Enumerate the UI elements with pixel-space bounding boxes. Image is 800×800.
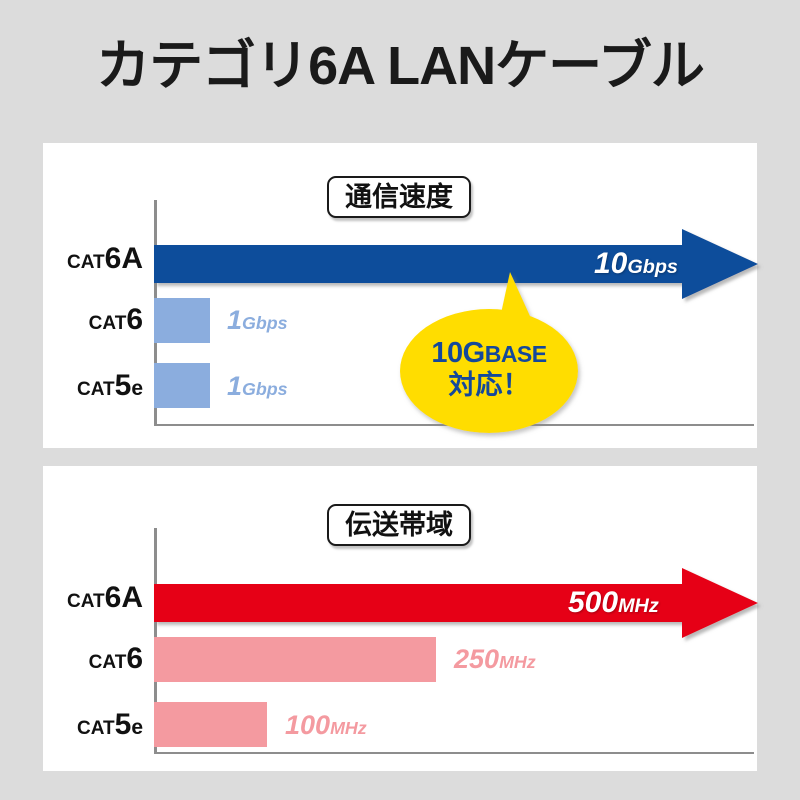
speed-row-label-cat5e-number: 5	[115, 369, 132, 402]
bandwidth-value-cat6a: 500MHz	[568, 588, 659, 618]
speed-row-label-cat6-prefix: CAT	[89, 313, 127, 334]
speed-value-cat5e-number: 1	[227, 371, 242, 401]
speed-row-label-cat6a: CAT6A	[43, 244, 143, 274]
bandwidth-chart-x-axis	[154, 752, 754, 754]
speed-bar-cat6	[154, 298, 210, 343]
speed-value-cat5e-unit: Gbps	[242, 379, 288, 399]
speed-bar-cat5e	[154, 363, 210, 408]
speed-value-cat6-number: 1	[227, 305, 242, 335]
speed-section-title: 通信速度	[327, 176, 471, 218]
infographic-root: カテゴリ6A LANケーブル 通信速度 CAT6A 10Gbps	[0, 0, 800, 800]
bandwidth-value-cat6-number: 250	[454, 644, 499, 674]
speed-row-label-cat5e-prefix: CAT	[77, 379, 115, 400]
bandwidth-bar-cat6a-arrow	[154, 568, 764, 638]
speed-row-label-cat6a-prefix: CAT	[67, 252, 105, 273]
bandwidth-value-cat5e-number: 100	[285, 710, 330, 740]
speed-row-label-cat6a-number: 6	[105, 242, 122, 275]
bandwidth-bar-cat6	[154, 637, 436, 682]
bandwidth-bar-cat5e	[154, 702, 267, 747]
callout-10gbase: 10GBASE 対応！	[400, 280, 588, 438]
speed-row-label-cat6: CAT6	[43, 305, 143, 335]
bandwidth-value-cat5e: 100MHz	[285, 712, 367, 739]
bandwidth-value-cat6a-unit: MHz	[618, 595, 659, 617]
bandwidth-row-label-cat6a-prefix: CAT	[67, 591, 105, 612]
bandwidth-row-label-cat6-number: 6	[126, 642, 143, 675]
speed-value-cat6-unit: Gbps	[242, 313, 288, 333]
speed-row-label-cat6a-suffix: A	[121, 242, 143, 275]
bandwidth-value-cat6: 250MHz	[454, 646, 536, 673]
bandwidth-row-label-cat6a-suffix: A	[121, 581, 143, 614]
bandwidth-row-label-cat6a: CAT6A	[43, 583, 143, 613]
bandwidth-section-title: 伝送帯域	[327, 504, 471, 546]
speed-row-label-cat6-number: 6	[126, 303, 143, 336]
bandwidth-row-label-cat6: CAT6	[43, 644, 143, 674]
bandwidth-row-label-cat6a-number: 6	[105, 581, 122, 614]
speed-row-label-cat5e: CAT5e	[43, 371, 143, 401]
speed-value-cat6a: 10Gbps	[594, 249, 678, 279]
bandwidth-value-cat6-unit: MHz	[499, 652, 536, 672]
speed-value-cat6: 1Gbps	[227, 307, 288, 334]
page-title: カテゴリ6A LANケーブル	[0, 36, 800, 96]
speed-value-cat6a-unit: Gbps	[627, 256, 678, 278]
bandwidth-value-cat5e-unit: MHz	[330, 718, 367, 738]
panel-transmission-bandwidth: 伝送帯域 CAT6A 500MHz CAT6 250MHz CAT5e	[43, 466, 757, 771]
bandwidth-row-label-cat5e-suffix: e	[131, 716, 143, 739]
speed-value-cat6a-number: 10	[594, 247, 627, 280]
bandwidth-row-label-cat5e: CAT5e	[43, 710, 143, 740]
speed-row-label-cat5e-suffix: e	[131, 377, 143, 400]
bandwidth-row-label-cat6-prefix: CAT	[89, 652, 127, 673]
bandwidth-value-cat6a-number: 500	[568, 586, 618, 619]
bandwidth-row-label-cat5e-prefix: CAT	[77, 718, 115, 739]
speed-value-cat5e: 1Gbps	[227, 373, 288, 400]
bandwidth-row-label-cat5e-number: 5	[115, 708, 132, 741]
